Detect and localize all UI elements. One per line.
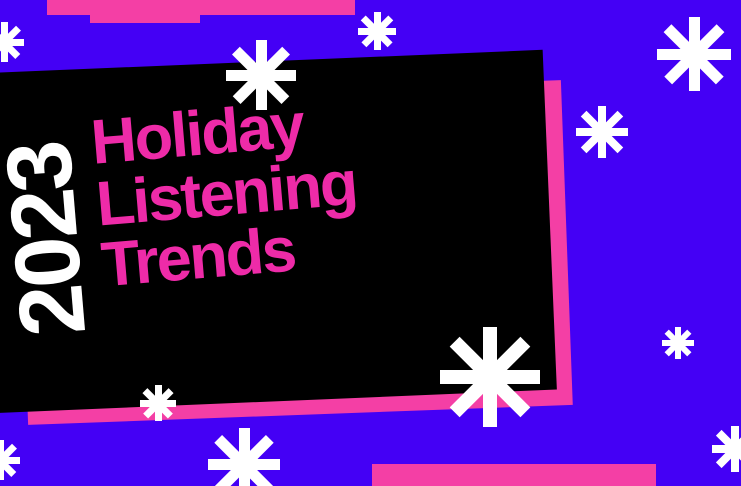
snowflake-icon <box>662 327 694 359</box>
holiday-listening-trends-poster: 2023 Holiday Listening Trends <box>0 0 741 486</box>
snowflake-icon <box>440 327 540 427</box>
headline: Holiday Listening Trends <box>89 81 483 297</box>
pink-bar-bottom <box>372 464 656 486</box>
snowflake-icon <box>208 428 280 486</box>
snowflake-icon <box>0 440 20 480</box>
title-block: 2023 Holiday Listening Trends <box>0 81 486 369</box>
snowflake-icon <box>140 385 176 421</box>
snowflake-icon <box>0 22 24 62</box>
snowflake-icon <box>358 12 396 50</box>
snowflake-spoke <box>193 413 295 486</box>
snowflake-icon <box>657 17 731 91</box>
year-label: 2023 <box>0 140 99 339</box>
snowflake-icon <box>226 40 296 110</box>
snowflake-icon <box>576 106 628 158</box>
snowflake-icon <box>712 426 741 472</box>
pink-bar-top-narrow <box>90 0 200 23</box>
